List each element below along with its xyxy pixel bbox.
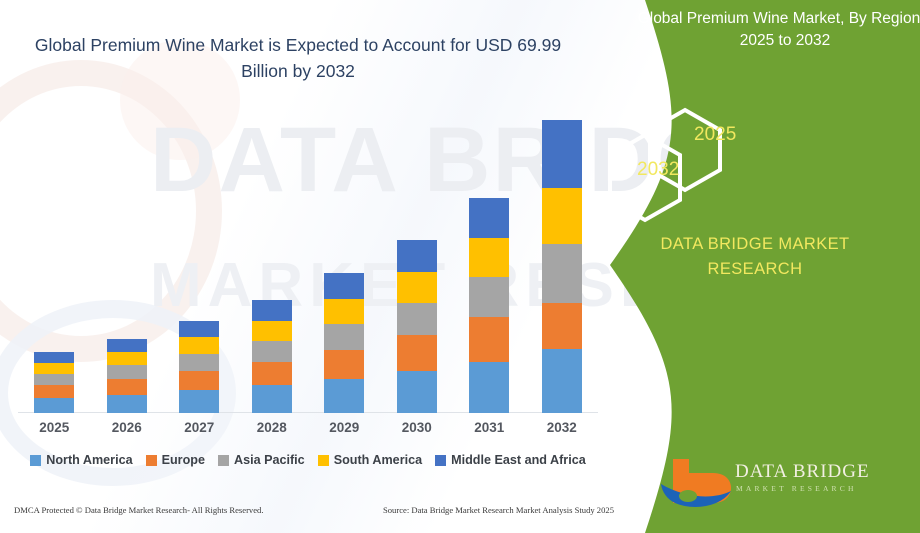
x-axis-tick-label: 2025	[18, 420, 91, 435]
x-axis-tick-label: 2029	[308, 420, 381, 435]
bar-segment	[469, 362, 509, 413]
stacked-bar	[34, 352, 74, 413]
bar-column	[163, 120, 236, 413]
bar-segment	[397, 272, 437, 304]
stacked-bar	[252, 300, 292, 413]
bar-segment	[324, 379, 364, 413]
bar-segment	[179, 321, 219, 338]
bar-column	[453, 120, 526, 413]
bar-segment	[252, 362, 292, 386]
bar-group	[18, 120, 598, 413]
bar-segment	[397, 240, 437, 272]
bar-segment	[397, 335, 437, 371]
bar-segment	[542, 303, 582, 349]
bar-column	[381, 120, 454, 413]
bar-segment	[469, 198, 509, 238]
logo-subtitle: MARKET RESEARCH	[736, 484, 857, 493]
stacked-bar	[179, 321, 219, 413]
bar-segment	[469, 238, 509, 278]
legend-swatch-icon	[146, 455, 157, 466]
stacked-bar	[542, 120, 582, 413]
legend-label: Europe	[162, 453, 205, 467]
x-axis-tick-label: 2031	[453, 420, 526, 435]
legend-item[interactable]: Asia Pacific	[218, 453, 305, 467]
bar-segment	[324, 350, 364, 379]
company-logo: DATA BRIDGE MARKET RESEARCH	[655, 453, 920, 515]
hexagon-group: 2032 2025	[590, 100, 920, 230]
legend-label: North America	[46, 453, 132, 467]
bar-segment	[107, 379, 147, 395]
bar-segment	[107, 365, 147, 378]
bar-segment	[542, 188, 582, 244]
legend-swatch-icon	[318, 455, 329, 466]
bar-segment	[34, 363, 74, 374]
bar-segment	[179, 337, 219, 354]
right-green-panel: Global Premium Wine Market, By Regions, …	[590, 0, 920, 533]
brand-name: DATA BRIDGE MARKET RESEARCH	[590, 232, 920, 282]
legend-item[interactable]: South America	[318, 453, 422, 467]
bar-segment	[469, 277, 509, 317]
bar-segment	[324, 273, 364, 299]
bar-segment	[179, 390, 219, 413]
stacked-bar	[397, 240, 437, 413]
legend-item[interactable]: Europe	[146, 453, 205, 467]
bar-segment	[324, 299, 364, 325]
bar-segment	[252, 385, 292, 413]
bar-segment	[542, 244, 582, 304]
infographic-canvas: DATA BRIDGE MARKET RESEARCH Global Premi…	[0, 0, 920, 533]
legend-swatch-icon	[435, 455, 446, 466]
bar-column	[18, 120, 91, 413]
chart-legend: North AmericaEuropeAsia PacificSouth Ame…	[18, 453, 598, 467]
legend-swatch-icon	[30, 455, 41, 466]
bar-segment	[107, 352, 147, 365]
legend-label: Middle East and Africa	[451, 453, 586, 467]
x-axis-tick-label: 2026	[91, 420, 164, 435]
logo-wordmark: DATA BRIDGE	[735, 461, 870, 483]
footer-copyright: DMCA Protected © Data Bridge Market Rese…	[14, 505, 264, 515]
x-axis-tick-label: 2027	[163, 420, 236, 435]
legend-item[interactable]: North America	[30, 453, 132, 467]
bar-segment	[469, 317, 509, 361]
hexagon-label-2032: 2032	[637, 159, 679, 181]
bar-segment	[252, 341, 292, 362]
bar-column	[236, 120, 309, 413]
bar-segment	[542, 349, 582, 413]
bar-segment	[34, 374, 74, 385]
footer-source: Source: Data Bridge Market Research Mark…	[383, 505, 614, 515]
bar-column	[91, 120, 164, 413]
brand-line-1: DATA BRIDGE MARKET	[590, 232, 920, 257]
bar-column	[308, 120, 381, 413]
bar-segment	[34, 385, 74, 398]
stacked-bar	[469, 198, 509, 413]
bar-segment	[34, 352, 74, 363]
x-axis-labels: 20252026202720282029203020312032	[18, 420, 598, 435]
footer: DMCA Protected © Data Bridge Market Rese…	[14, 505, 614, 515]
stacked-bar	[324, 273, 364, 413]
chart-plot-area	[18, 120, 598, 413]
bar-segment	[107, 395, 147, 413]
brand-line-2: RESEARCH	[590, 257, 920, 282]
legend-label: Asia Pacific	[234, 453, 305, 467]
x-axis-tick-label: 2030	[381, 420, 454, 435]
bar-segment	[397, 371, 437, 413]
legend-item[interactable]: Middle East and Africa	[435, 453, 586, 467]
bar-segment	[179, 371, 219, 391]
legend-label: South America	[334, 453, 422, 467]
bar-segment	[107, 339, 147, 352]
x-axis-tick-label: 2032	[526, 420, 599, 435]
bar-segment	[542, 120, 582, 188]
stacked-bar	[107, 339, 147, 413]
bar-column	[526, 120, 599, 413]
bar-segment	[179, 354, 219, 371]
x-axis-tick-label: 2028	[236, 420, 309, 435]
bar-segment	[34, 398, 74, 413]
bar-segment	[252, 300, 292, 321]
legend-swatch-icon	[218, 455, 229, 466]
bar-segment	[252, 321, 292, 342]
page-title: Global Premium Wine Market is Expected t…	[18, 32, 578, 85]
hexagon-label-2025: 2025	[694, 124, 736, 146]
bar-segment	[397, 303, 437, 335]
panel-title: Global Premium Wine Market, By Regions, …	[620, 8, 920, 53]
bar-segment	[324, 324, 364, 350]
